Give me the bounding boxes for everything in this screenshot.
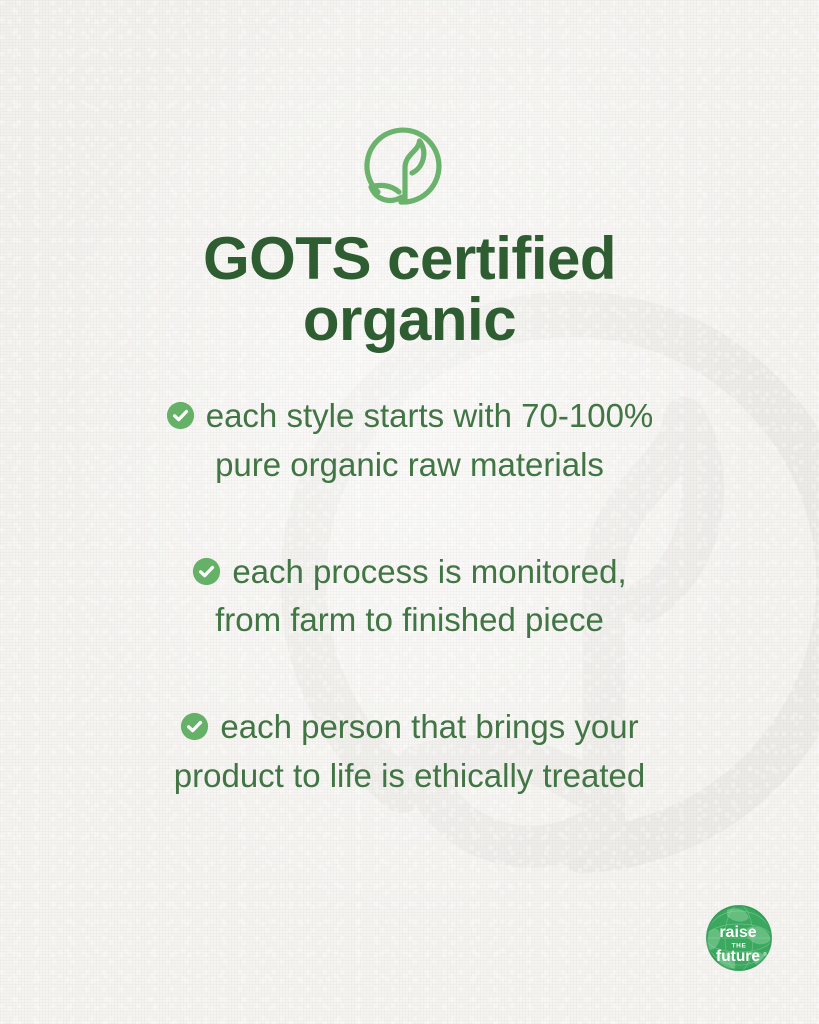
headline-line-2: organic xyxy=(90,289,729,350)
badge-line-3: future xyxy=(716,948,760,965)
check-circle-icon xyxy=(180,706,209,735)
list-item: each process is monitored, from farm to … xyxy=(0,548,819,646)
badge-trademark: ® xyxy=(763,951,767,958)
list-item-line-1: each person that brings your xyxy=(220,708,638,745)
list-item-line-2: product to life is ethically treated xyxy=(72,752,747,801)
list-item-line-1: each style starts with 70-100% xyxy=(206,397,654,434)
list-item-line-1: each process is monitored, xyxy=(232,553,626,590)
list-item-line-2: pure organic raw materials xyxy=(72,441,747,490)
page-title: GOTS certified organic xyxy=(0,228,819,350)
benefit-list: each style starts with 70-100% pure orga… xyxy=(0,392,819,801)
headline-line-1: GOTS certified xyxy=(90,228,729,289)
check-circle-icon xyxy=(192,551,221,580)
badge-line-1: raise xyxy=(719,924,756,941)
poster-content: GOTS certified organic each style starts… xyxy=(0,0,819,1024)
raise-the-future-badge[interactable]: raise THE future ® xyxy=(703,902,775,974)
list-item: each style starts with 70-100% pure orga… xyxy=(0,392,819,490)
poster-canvas: GOTS certified organic each style starts… xyxy=(0,0,819,1024)
brand-logo xyxy=(0,116,819,212)
organic-leaf-circle-icon xyxy=(358,116,462,212)
check-circle-icon xyxy=(166,395,195,424)
list-item-line-2: from farm to finished piece xyxy=(72,596,747,645)
list-item: each person that brings your product to … xyxy=(0,703,819,801)
